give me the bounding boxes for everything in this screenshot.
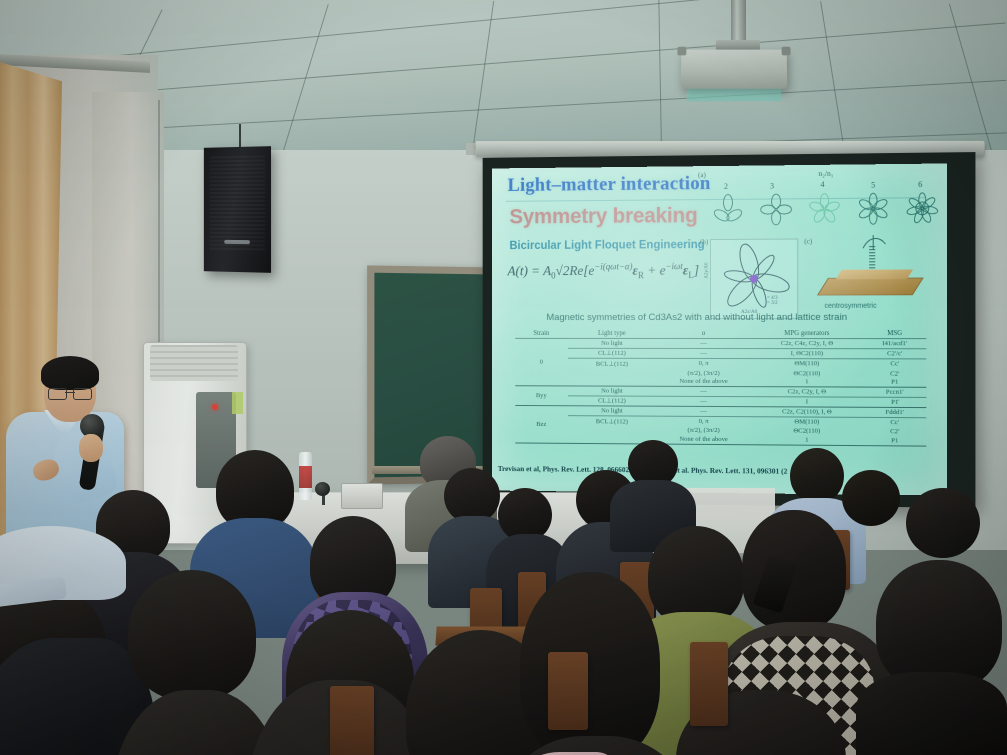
cell-mpg: 1 — [751, 377, 863, 387]
rosette-number: 5 — [871, 180, 875, 189]
cell-light: CL⊥(112) — [567, 348, 656, 359]
cell-alpha: None of the above — [657, 377, 751, 386]
table-row: 0 No light — C2z, C4z, C2y, I, Θ I41/acd… — [515, 338, 926, 348]
panel-c-caption: centrosymmetric — [824, 303, 876, 310]
projector-foot — [782, 47, 791, 56]
figure-panel-b: = 4/3= 3/2 A2y/A0 A2x/A0 — [710, 239, 798, 320]
cell-mpg: C2z, C2y, I, Θ — [751, 387, 863, 397]
cell-msg: Cc' — [863, 417, 926, 428]
figure-panel-c: centrosymmetric — [808, 238, 930, 319]
cell-strain: Byy — [515, 386, 567, 406]
cell-light: BCL⊥(112) — [567, 415, 656, 426]
screen-roller-cap-left — [466, 143, 475, 155]
light-spiral-icon — [859, 234, 890, 252]
cell-mpg: ΘM(110) — [751, 359, 863, 369]
rosette-curve-5 — [855, 190, 892, 227]
rosette-curve-4 — [806, 191, 842, 228]
cell-mpg: I, ΘC2(110) — [751, 348, 863, 359]
cell-mpg: ΘC2(110) — [751, 369, 863, 378]
presenter-hair — [41, 356, 99, 390]
col-mpg: MPG generators — [751, 328, 863, 339]
audience-head — [128, 570, 256, 700]
cell-light: BCL⊥(112) — [567, 358, 656, 368]
slide-title: Light–matter interaction — [508, 173, 711, 197]
audience-head — [842, 470, 900, 526]
cell-mpg: I — [751, 396, 863, 407]
cell-light: No light — [567, 406, 656, 416]
crystal-slab — [817, 278, 924, 296]
cell-strain: 0 — [515, 338, 567, 386]
cell-light: No light — [567, 386, 656, 396]
air-conditioner-sticker — [232, 392, 243, 414]
speaker-logo — [224, 239, 250, 243]
slide-equation: A(t) = A0√2Re[e−i(qωt−α)εR + e−iωtεL] — [508, 261, 700, 281]
cell-msg: C2'/c' — [863, 348, 926, 359]
crystal-slab-top — [836, 269, 913, 279]
table-caption: Magnetic symmetries of Cd3As2 with and w… — [546, 312, 847, 323]
col-alpha: α — [657, 328, 751, 339]
figure-panel-a: (a) n₂/n₁ 2 3 4 5 6 — [702, 170, 941, 234]
cell-msg: P1 — [863, 378, 926, 387]
audience-body — [856, 672, 1007, 755]
table-body: 0 No light — C2z, C4z, C2y, I, Θ I41/acd… — [515, 338, 926, 445]
cell-alpha: — — [657, 396, 751, 407]
cell-msg: Cc' — [863, 359, 926, 369]
rosette-curve-6 — [904, 190, 941, 227]
cell-msg: Pccn1' — [863, 387, 926, 397]
projector-foot — [677, 47, 686, 56]
cell-alpha: — — [657, 338, 751, 348]
panel-b-legend: = 4/3= 3/2 — [767, 296, 778, 306]
cell-light — [567, 377, 656, 386]
cell-alpha: — — [657, 348, 751, 359]
cell-msg: C2' — [863, 369, 926, 378]
lecture-hall-photo: Light–matter interaction Symmetry breaki… — [0, 0, 1007, 755]
cell-light — [567, 368, 656, 377]
cell-alpha: 0, π — [657, 359, 751, 369]
audience-head — [648, 526, 744, 626]
rosette-curve-2 — [710, 192, 746, 228]
cell-mpg: ΘM(110) — [751, 416, 863, 427]
col-light-type: Light type — [567, 328, 656, 338]
cell-alpha: (π/2), (3π/2) — [657, 369, 751, 378]
cell-alpha: — — [657, 386, 751, 396]
cell-alpha: 0, π — [657, 416, 751, 427]
audience-head — [906, 488, 980, 558]
cell-msg: I41/acd1' — [863, 339, 926, 349]
chair-back — [330, 686, 374, 755]
ceiling-projector — [681, 50, 788, 89]
rosette-curve-3 — [758, 191, 794, 227]
audience-head — [790, 448, 844, 504]
table-row: CL⊥(112) — I, ΘC2(110) C2'/c' — [515, 348, 926, 359]
rosette-number: 3 — [770, 181, 774, 190]
table-header-row: Strain Light type α MPG generators MSG — [515, 328, 926, 339]
cell-msg: P1̄ — [863, 397, 926, 408]
panel-a-label: (a) — [698, 171, 706, 179]
rosette-number: 4 — [820, 180, 824, 189]
chair-back — [690, 642, 728, 726]
audience-head — [520, 572, 660, 755]
slide-section-heading: Bicircular Light Floquet Engineering — [509, 239, 704, 252]
wall-speaker — [204, 146, 271, 273]
audience: THE NORTH FACE — [0, 440, 1007, 755]
cell-light: No light — [567, 338, 656, 348]
cell-mpg: C2z, C4z, C2y, I, Θ — [751, 339, 863, 349]
rosette-number: 6 — [918, 180, 922, 189]
power-led-icon — [212, 404, 218, 410]
cell-light: CL⊥(112) — [567, 395, 656, 406]
trefoil-plot — [711, 240, 797, 318]
panel-a-ratio-label: n₂/n₁ — [818, 169, 833, 178]
audience-head — [876, 560, 1002, 690]
col-msg: MSG — [863, 328, 926, 339]
rosette-number: 2 — [724, 182, 728, 191]
chair-back — [548, 652, 588, 730]
cell-strain: Bzz — [515, 406, 567, 443]
slide-subtitle: Symmetry breaking — [509, 204, 697, 229]
eyeglasses-icon — [48, 388, 92, 398]
panel-b-ylabel: A2y/A0 — [705, 262, 710, 278]
cell-alpha: — — [657, 406, 751, 416]
cell-msg: Fddd1' — [863, 407, 926, 417]
col-strain: Strain — [515, 328, 567, 338]
symmetry-table: Strain Light type α MPG generators MSG 0… — [515, 328, 926, 446]
air-conditioner-vents — [150, 345, 238, 381]
projector-mount-pole — [731, 0, 746, 45]
panel-b-label: (b) — [700, 238, 708, 246]
